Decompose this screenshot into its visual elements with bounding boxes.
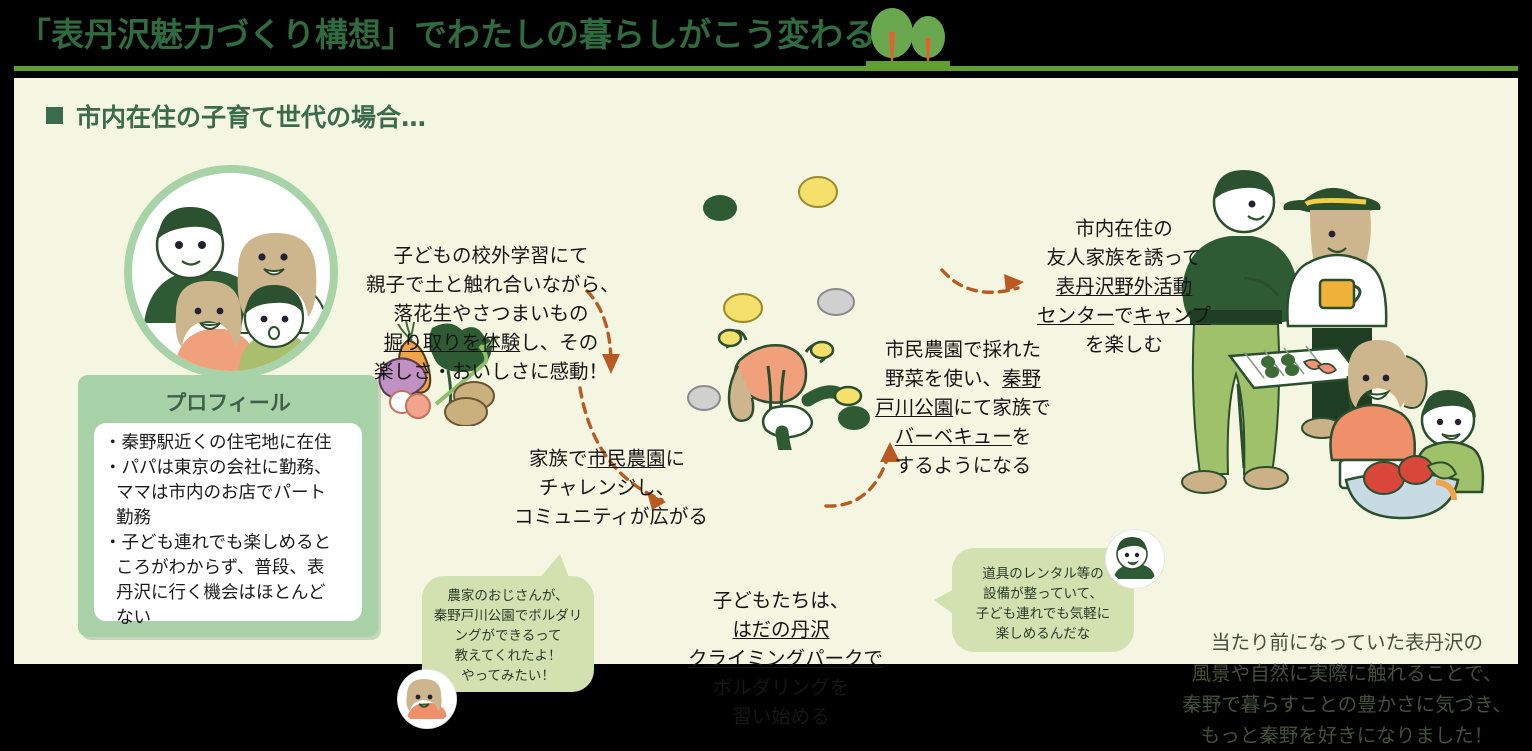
story-bouldering: 子どもたちは、 はだの丹沢 クライミングパークで ボルダリングを 習い始める xyxy=(688,586,874,731)
story-school-excursion: 子どもの校外学習にて 親子で土と触れ合いながら、 落花生やさつまいもの 掘り取り… xyxy=(366,241,616,386)
filled-square-icon xyxy=(46,107,63,124)
story-citizen-farm: 家族で市民農園に チャレンジし、 コミュニティが広がる xyxy=(514,444,700,531)
page-title: 「表丹沢魅力づくり構想」でわたしの暮らしがこう変わる xyxy=(18,12,876,58)
speech-bubble-girl: 農家のおじさんが、 秦野戸川公園でボルダリ ングができるって 教えてくれたよ！ … xyxy=(422,576,594,692)
bouldering-girl-icon xyxy=(686,170,896,450)
family-portrait xyxy=(124,165,338,379)
two-trees-icon xyxy=(866,8,950,68)
bubble-tail xyxy=(538,554,570,580)
header-divider xyxy=(14,66,1518,71)
girl-avatar xyxy=(398,670,456,728)
profile-body: ・秦野駅近くの住宅地に在住 ・パパは東京の会社に勤務、 ママは市内のお店でパート… xyxy=(94,423,362,621)
man-avatar xyxy=(1106,530,1164,588)
profile-title: プロフィール xyxy=(78,387,378,417)
arrow-bbq-to-camp xyxy=(942,270,1018,292)
profile-item: ・パパは東京の会社に勤務、 xyxy=(104,456,352,481)
content-panel: 市内在住の子育て世代の場合… xyxy=(14,78,1518,664)
story-bbq: 市民農園で採れた 野菜を使い、秦野 戸川公園にて家族で バーベキューを するよう… xyxy=(870,335,1056,480)
profile-item: ・子ども連れでも楽しめると xyxy=(104,531,352,556)
story-closing: 当たり前になっていた表丹沢の 風景や自然に実際に触れることで、 秦野で暮らすこと… xyxy=(1172,627,1522,751)
section-heading-label: 市内在住の子育て世代の場合… xyxy=(76,103,426,132)
bbq-family-scene-icon xyxy=(1160,160,1520,520)
infographic-root: 「表丹沢魅力づくり構想」でわたしの暮らしがこう変わる 市内在住の子育て世代の場合… xyxy=(0,0,1532,676)
section-heading: 市内在住の子育て世代の場合… xyxy=(46,98,426,134)
profile-item: ・秦野駅近くの住宅地に在住 xyxy=(104,431,352,456)
bubble-tail xyxy=(934,588,956,616)
profile-card: プロフィール ・秦野駅近くの住宅地に在住 ・パパは東京の会社に勤務、 ママは市内… xyxy=(78,375,378,637)
story-camp: 市内在住の 友人家族を誘って 表丹沢野外活動 センターでキャンプ を楽しむ xyxy=(1036,214,1212,359)
header-bar: 「表丹沢魅力づくり構想」でわたしの暮らしがこう変わる xyxy=(0,0,1532,76)
